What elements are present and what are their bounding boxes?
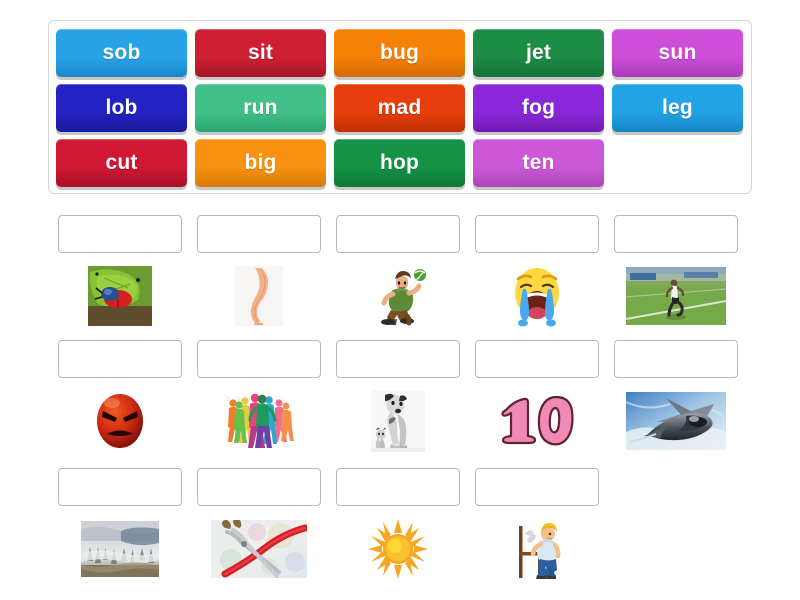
answer-cell-bug	[58, 215, 182, 327]
word-tile-mad[interactable]: mad	[334, 84, 465, 132]
word-tile-big[interactable]: big	[195, 139, 326, 187]
drop-box-2-4[interactable]	[475, 340, 599, 378]
picture-loudly-crying-face	[475, 265, 599, 327]
picture-scissors-cutting-ribbon	[197, 518, 321, 580]
picture-colorful-crowd-running	[197, 390, 321, 452]
answer-cell-mad	[58, 340, 182, 452]
drop-box-3-2[interactable]	[197, 468, 321, 506]
answer-cell-jet	[614, 340, 738, 452]
runner-on-track-photo	[626, 267, 726, 325]
picture-great-dane-big-dog	[336, 390, 460, 452]
drop-box-2-3[interactable]	[336, 340, 460, 378]
answer-cell-run-crowd	[197, 340, 321, 452]
answer-cell-fog	[58, 468, 182, 580]
answer-cell-leg	[197, 215, 321, 327]
word-bank-row-3: cut big hop ten	[56, 139, 744, 187]
angry-red-face-emoji	[91, 391, 149, 451]
foggy-forest-photo	[81, 521, 159, 577]
picture-beetle-on-leaf	[58, 265, 182, 327]
word-bank-row-2: lob run mad fog leg	[56, 84, 744, 132]
answer-row-3	[58, 468, 748, 580]
word-tile-jet[interactable]: jet	[473, 29, 604, 77]
word-tile-fog[interactable]: fog	[473, 84, 604, 132]
picture-man-lobbing-ball	[336, 265, 460, 327]
human-leg-illustration	[235, 266, 283, 326]
picture-fighter-jet	[614, 390, 738, 452]
drop-box-2-1[interactable]	[58, 340, 182, 378]
answer-cell-sun	[336, 468, 460, 580]
answer-row-2	[58, 340, 748, 452]
drop-box-1-2[interactable]	[197, 215, 321, 253]
drop-box-1-1[interactable]	[58, 215, 182, 253]
picture-angry-red-face	[58, 390, 182, 452]
word-tile-leg[interactable]: leg	[612, 84, 743, 132]
man-sitting-on-chair-clipart	[509, 518, 565, 580]
answer-cell-sob	[475, 215, 599, 327]
answer-cell-ten	[475, 340, 599, 452]
drop-box-2-2[interactable]	[197, 340, 321, 378]
answer-cell-lob	[336, 215, 460, 327]
scissors-cutting-red-ribbon-photo	[211, 520, 307, 578]
word-bank-panel: sob sit bug jet sun lob run mad fog leg …	[48, 20, 752, 194]
answer-cell-run	[614, 215, 738, 327]
word-tile-sit[interactable]: sit	[195, 29, 326, 77]
drop-box-3-3[interactable]	[336, 468, 460, 506]
picture-man-sitting-on-chair	[475, 518, 599, 580]
word-tile-cut[interactable]: cut	[56, 139, 187, 187]
picture-pink-number-ten	[475, 390, 599, 452]
picture-human-leg	[197, 265, 321, 327]
word-tile-empty-slot	[612, 139, 743, 187]
answer-row-1	[58, 215, 748, 327]
drop-box-2-5[interactable]	[614, 340, 738, 378]
activity-page: sob sit bug jet sun lob run mad fog leg …	[0, 0, 800, 600]
man-lobbing-ball-clipart	[366, 266, 430, 326]
colorful-crowd-running-clipart	[221, 390, 297, 452]
answer-cell-big	[336, 340, 460, 452]
word-tile-run[interactable]: run	[195, 84, 326, 132]
word-tile-lob[interactable]: lob	[56, 84, 187, 132]
drop-box-3-1[interactable]	[58, 468, 182, 506]
beetle-on-leaf-photo	[88, 266, 152, 326]
drop-box-1-5[interactable]	[614, 215, 738, 253]
word-tile-sun[interactable]: sun	[612, 29, 743, 77]
drop-box-1-4[interactable]	[475, 215, 599, 253]
picture-runner-on-track	[614, 265, 738, 327]
drop-box-1-3[interactable]	[336, 215, 460, 253]
loudly-crying-face-emoji	[507, 265, 567, 327]
word-tile-sob[interactable]: sob	[56, 29, 187, 77]
word-tile-bug[interactable]: bug	[334, 29, 465, 77]
picture-sun	[336, 518, 460, 580]
word-bank-row-1: sob sit bug jet sun	[56, 29, 744, 77]
pink-number-ten-clipart	[494, 392, 580, 450]
answer-cell-sit	[475, 468, 599, 580]
fighter-jet-photo	[626, 392, 726, 450]
answer-cell-cut	[197, 468, 321, 580]
word-tile-hop[interactable]: hop	[334, 139, 465, 187]
sun-emoji	[367, 519, 429, 579]
word-tile-ten[interactable]: ten	[473, 139, 604, 187]
great-dane-big-dog-photo	[371, 390, 425, 452]
picture-foggy-forest	[58, 518, 182, 580]
drop-box-3-4[interactable]	[475, 468, 599, 506]
